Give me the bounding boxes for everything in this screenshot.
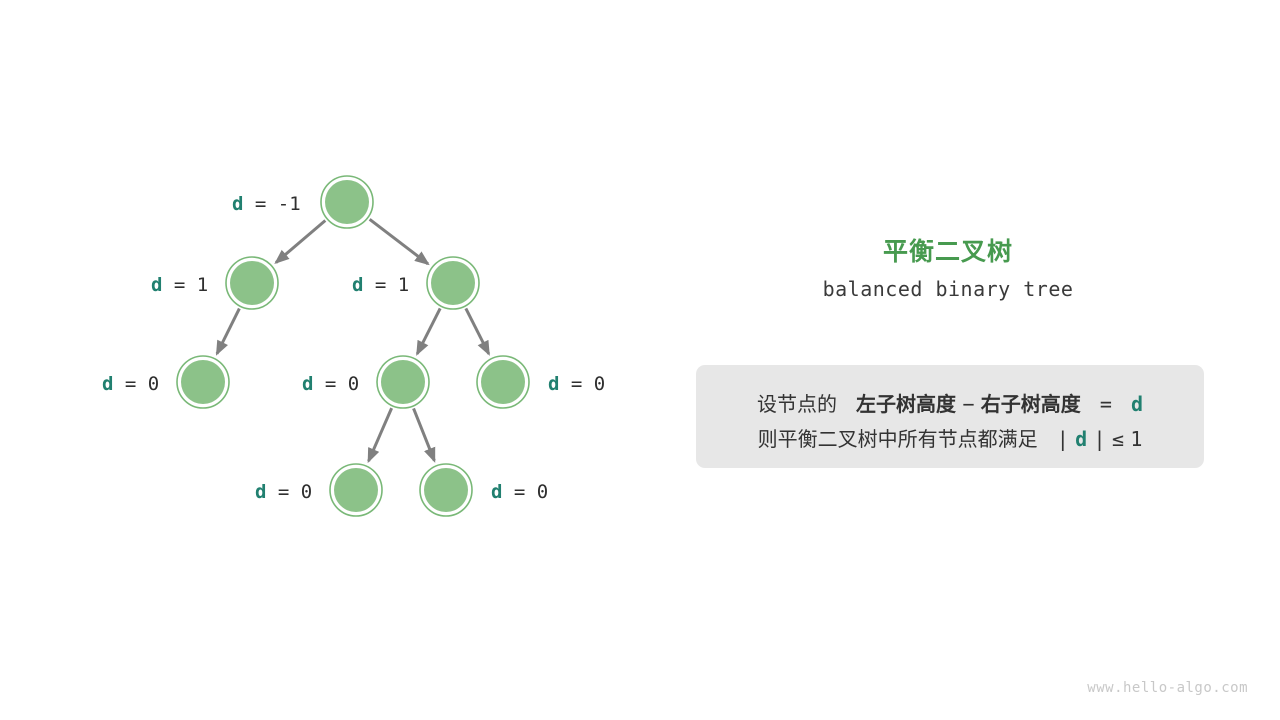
info-panel: 平衡二叉树 balanced binary tree 设节点的 左子树高度 − … [660,0,1280,720]
tree-node [477,356,529,408]
page-title: 平衡二叉树 [660,232,1236,268]
definition-prefix: 设节点的 [757,392,837,416]
tree-edge [369,408,392,461]
d-variable: d [352,274,363,296]
page-subtitle: balanced binary tree [660,277,1236,301]
tree-edge [466,308,489,353]
node-circle [334,468,378,512]
d-variable: d [102,373,113,395]
d-variable: d [255,481,266,503]
definition-box: 设节点的 左子树高度 − 右子树高度 = d 则平衡二叉树中所有节点都满足 | … [696,365,1204,468]
watermark: www.hello-algo.com [1087,680,1248,696]
tree-node [321,176,373,228]
definition-line-1: 设节点的 左子树高度 − 右子树高度 = d [696,388,1204,417]
d-value: = 1 [162,274,208,296]
d-variable: d [1075,427,1087,451]
tree-diagram: d = -1d = 1d = 1d = 0d = 0d = 0d = 0d = … [0,0,660,720]
tree-graphics [0,0,660,720]
definition-line-2: 则平衡二叉树中所有节点都满足 | d | ≤ 1 [696,423,1204,452]
node-balance-factor-label: d = 1 [151,276,208,295]
right-subtree-height-term: 右子树高度 [981,392,1081,416]
d-value: = 0 [559,373,605,395]
d-value: = 1 [363,274,409,296]
tree-edges [217,219,489,461]
node-circle [381,360,425,404]
minus-operator: − [962,392,974,416]
d-variable: d [491,481,502,503]
node-circle [181,360,225,404]
tree-edge [417,308,440,353]
d-variable: d [302,373,313,395]
tree-node [420,464,472,516]
tree-node [377,356,429,408]
d-variable: d [151,274,162,296]
d-value: = -1 [243,193,300,215]
d-variable: d [548,373,559,395]
tree-edge [370,219,428,264]
equals-operator: = [1100,392,1112,416]
node-balance-factor-label: d = 0 [102,375,159,394]
less-equal-operator: ≤ [1112,427,1124,451]
d-value: = 0 [266,481,312,503]
tree-node [177,356,229,408]
tree-edge [217,309,239,354]
d-variable: d [1131,392,1143,416]
tree-node [226,257,278,309]
left-subtree-height-term: 左子树高度 [856,392,956,416]
d-variable: d [232,193,243,215]
d-value: = 0 [113,373,159,395]
d-value: = 0 [313,373,359,395]
node-balance-factor-label: d = 0 [302,375,359,394]
node-balance-factor-label: d = 0 [255,483,312,502]
node-circle [481,360,525,404]
definition-condition-prefix: 则平衡二叉树中所有节点都满足 [758,427,1038,451]
node-balance-factor-label: d = 0 [548,375,605,394]
abs-bar-close: | [1094,427,1106,451]
node-balance-factor-label: d = 0 [491,483,548,502]
tree-node [330,464,382,516]
bound-value: 1 [1130,427,1142,451]
d-value: = 0 [502,481,548,503]
tree-nodes [177,176,529,516]
node-circle [325,180,369,224]
tree-edge [414,408,435,460]
abs-bar-open: | [1057,427,1069,451]
node-circle [431,261,475,305]
tree-edge [276,220,325,262]
balanced-binary-tree-illustration: d = -1d = 1d = 1d = 0d = 0d = 0d = 0d = … [0,0,1280,720]
node-balance-factor-label: d = -1 [232,195,301,214]
node-circle [230,261,274,305]
node-circle [424,468,468,512]
tree-node [427,257,479,309]
node-balance-factor-label: d = 1 [352,276,409,295]
